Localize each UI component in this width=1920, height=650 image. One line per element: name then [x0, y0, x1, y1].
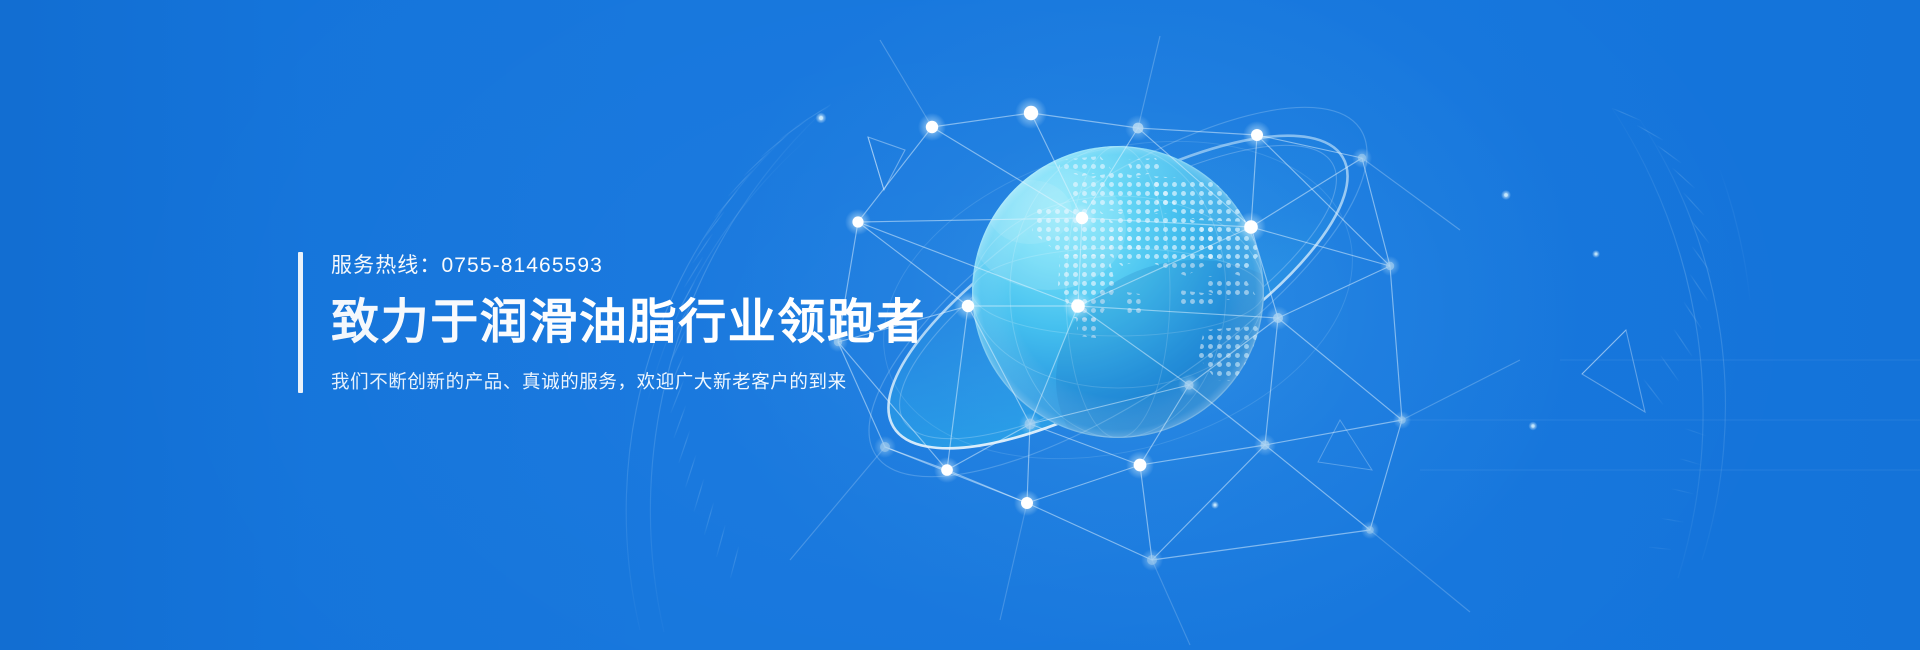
- network-mesh-icon: [0, 0, 1920, 650]
- hero-banner: 服务热线：0755-81465593 致力于润滑油脂行业领跑者 我们不断创新的产…: [0, 0, 1920, 650]
- banner-copy-text: 服务热线：0755-81465593 致力于润滑油脂行业领跑者 我们不断创新的产…: [303, 252, 926, 393]
- banner-headline: 致力于润滑油脂行业领跑者: [331, 299, 926, 347]
- accent-bar: [298, 252, 303, 393]
- service-hotline: 服务热线：0755-81465593: [331, 252, 926, 276]
- banner-copy: 服务热线：0755-81465593 致力于润滑油脂行业领跑者 我们不断创新的产…: [298, 252, 926, 393]
- banner-subheadline: 我们不断创新的产品、真诚的服务，欢迎广大新老客户的到来: [331, 373, 926, 394]
